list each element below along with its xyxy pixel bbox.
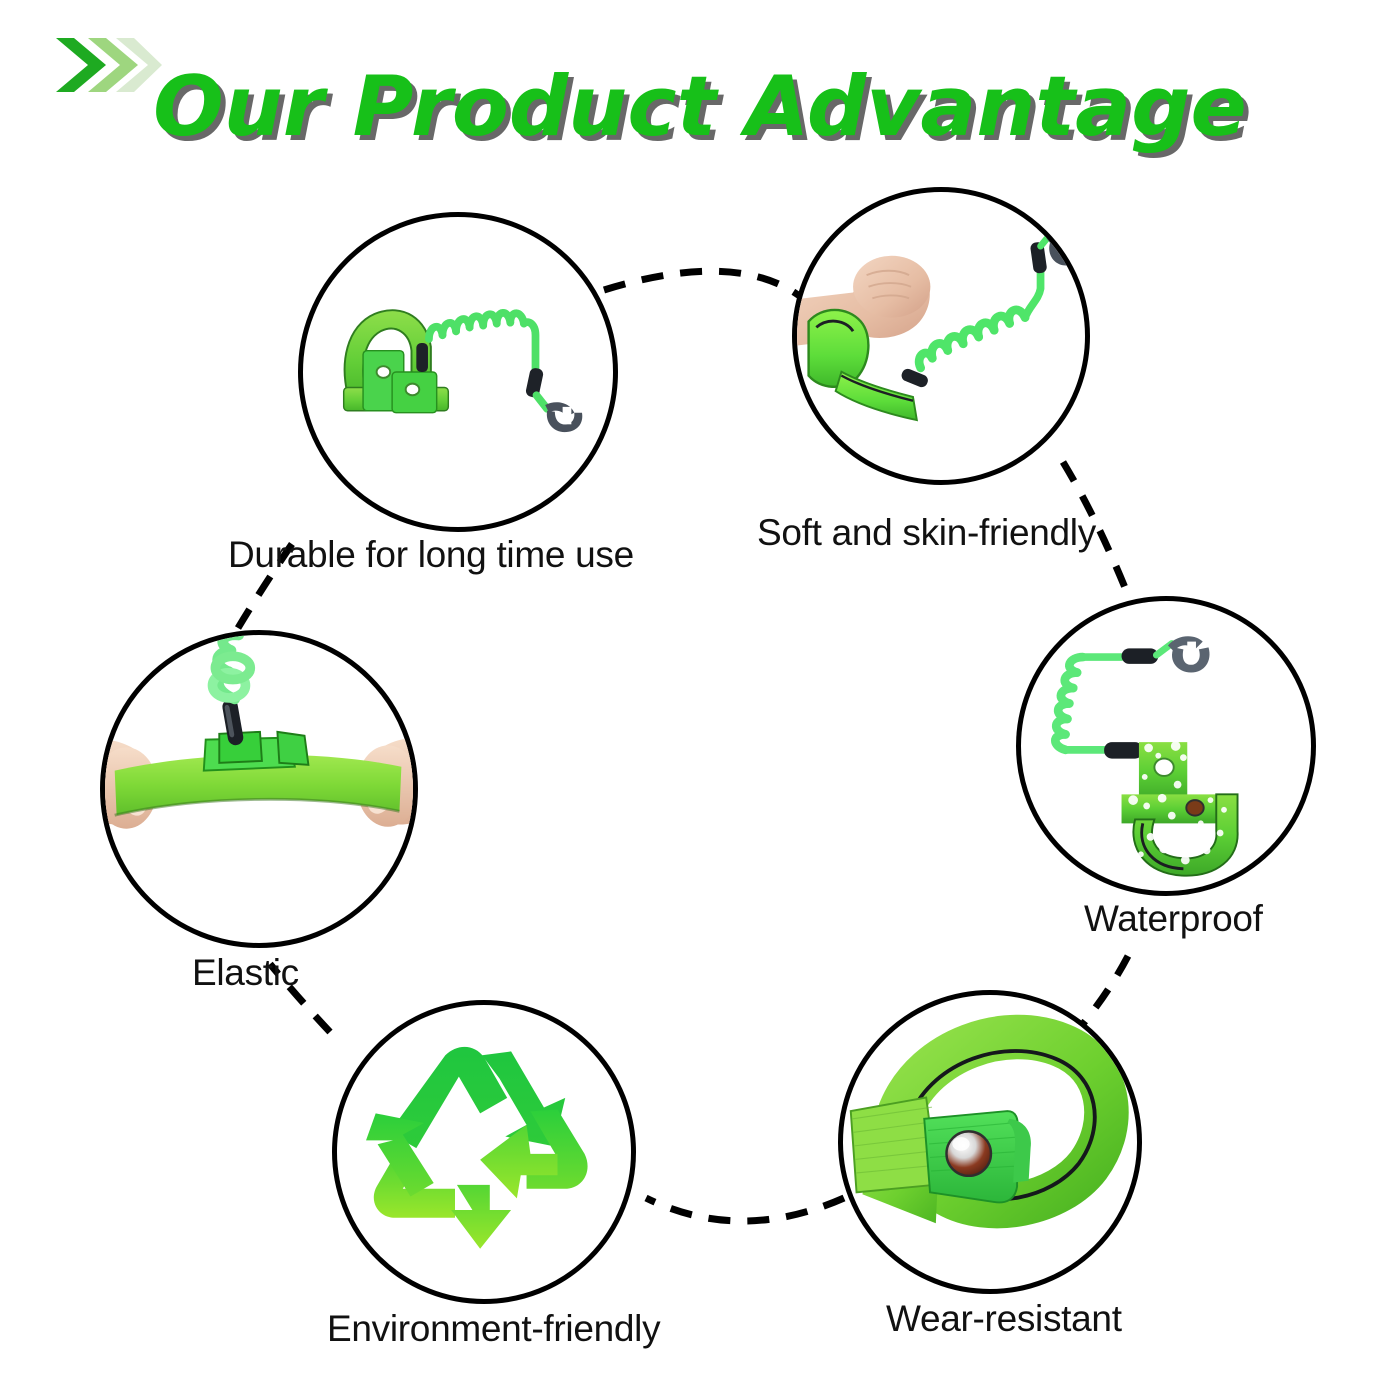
feature-caption-durable: Durable for long time use: [228, 534, 634, 576]
feature-circle-waterproof: [1016, 596, 1316, 896]
page-title: Our Product Advantage: [0, 58, 1400, 155]
feature-caption-wear: Wear-resistant: [886, 1298, 1122, 1340]
connector-wear-environment: [646, 1198, 844, 1221]
product-photo-wristband-with-coil-cord: [303, 217, 613, 527]
infographic-canvas: Our Product Advantage: [0, 0, 1400, 1400]
feature-circle-durable: [298, 212, 618, 532]
recycling-symbol-icon: [337, 1005, 631, 1299]
feature-circle-elastic: [100, 630, 418, 948]
product-photo-hands-stretching-band: [105, 635, 413, 943]
product-photo-band-closeup-with-snap-button: [843, 995, 1137, 1289]
feature-caption-elastic: Elastic: [192, 952, 299, 994]
feature-caption-waterproof: Waterproof: [1084, 898, 1263, 940]
feature-caption-environment: Environment-friendly: [327, 1308, 660, 1350]
feature-caption-soft: Soft and skin-friendly: [757, 512, 1096, 554]
connector-durable-soft: [604, 271, 805, 300]
feature-circle-environment: [332, 1000, 636, 1304]
feature-circle-wear: [838, 990, 1142, 1294]
product-photo-wet-wristband-with-water-droplets: [1021, 601, 1311, 891]
product-photo-wristband-worn-on-wrist: [797, 192, 1085, 480]
feature-circle-soft: [792, 187, 1090, 485]
